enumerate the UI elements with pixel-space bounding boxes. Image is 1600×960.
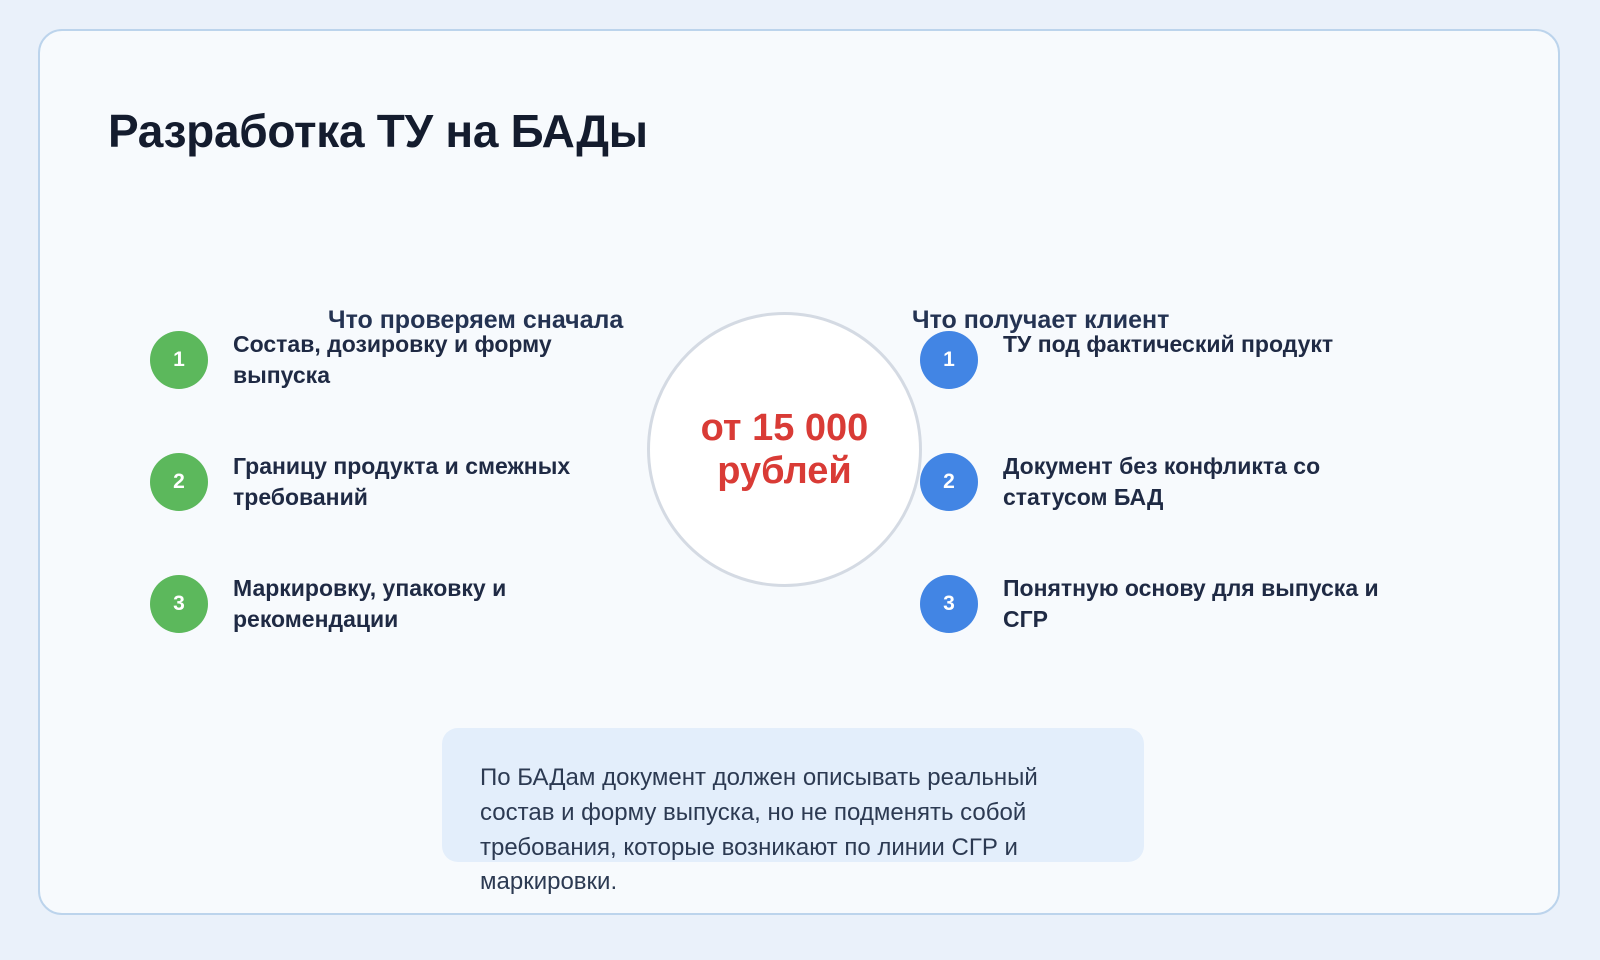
list-item-label: Понятную основу для выпуска и СГР <box>1003 573 1403 634</box>
left-column-list: 1 Состав, дозировку и форму выпуска 2 Гр… <box>150 323 620 689</box>
note-text: По БАДам документ должен описывать реаль… <box>480 761 1040 900</box>
step-number-badge: 3 <box>920 575 978 633</box>
price-circle: от 15 000 рублей <box>647 312 922 587</box>
step-number-badge: 1 <box>920 331 978 389</box>
list-item: 3 Маркировку, упаковку и рекомендации <box>150 567 620 689</box>
step-number-badge: 1 <box>150 331 208 389</box>
list-item: 2 Документ без конфликта со статусом БАД <box>920 445 1390 567</box>
step-number-badge: 2 <box>920 453 978 511</box>
list-item-label: Состав, дозировку и форму выпуска <box>233 329 613 390</box>
list-item: 1 ТУ под фактический продукт <box>920 323 1390 445</box>
list-item: 3 Понятную основу для выпуска и СГР <box>920 567 1390 689</box>
page-title: Разработка ТУ на БАДы <box>108 103 668 161</box>
right-column-list: 1 ТУ под фактический продукт 2 Документ … <box>920 323 1390 689</box>
price-value: от 15 000 рублей <box>695 407 875 492</box>
list-item-label: ТУ под фактический продукт <box>1003 329 1403 360</box>
list-item-label: Документ без конфликта со статусом БАД <box>1003 451 1403 512</box>
step-number-badge: 2 <box>150 453 208 511</box>
list-item-label: Маркировку, упаковку и рекомендации <box>233 573 613 634</box>
step-number-badge: 3 <box>150 575 208 633</box>
note-box: По БАДам документ должен описывать реаль… <box>442 728 1144 862</box>
infographic-card: Разработка ТУ на БАДы Что проверяем снач… <box>38 29 1560 915</box>
list-item: 2 Границу продукта и смежных требований <box>150 445 620 567</box>
list-item-label: Границу продукта и смежных требований <box>233 451 613 512</box>
list-item: 1 Состав, дозировку и форму выпуска <box>150 323 620 445</box>
